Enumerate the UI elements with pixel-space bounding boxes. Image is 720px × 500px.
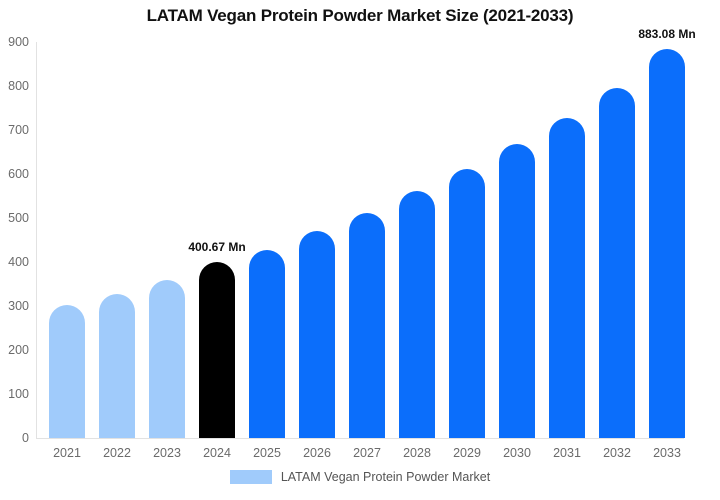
x-axis-tick-label: 2032 [603,446,631,460]
y-axis-tick-label: 900 [8,35,29,49]
bar-value-label: 400.67 Mn [188,240,245,254]
y-axis-tick-label: 700 [8,123,29,137]
y-axis-tick-label: 100 [8,387,29,401]
bar[interactable] [49,305,85,438]
x-axis-tick-label: 2027 [353,446,381,460]
bar-slot: 2026 [292,42,342,438]
x-axis-tick-label: 2025 [253,446,281,460]
bar[interactable] [199,262,235,438]
chart-container: LATAM Vegan Protein Powder Market Size (… [0,0,720,500]
bar-slot: 2028 [392,42,442,438]
x-axis-tick-label: 2026 [303,446,331,460]
bar[interactable] [349,213,385,438]
x-axis-tick-label: 2022 [103,446,131,460]
bar[interactable] [599,88,635,438]
bar-slot: 2022 [92,42,142,438]
bar-slot: 2031 [542,42,592,438]
chart-legend: LATAM Vegan Protein Powder Market [0,470,720,484]
x-axis-tick-label: 2031 [553,446,581,460]
y-axis-tick-label: 0 [22,431,29,445]
bar[interactable] [249,250,285,438]
y-axis-tick-label: 300 [8,299,29,313]
legend-label: LATAM Vegan Protein Powder Market [281,470,490,484]
y-axis-tick-label: 200 [8,343,29,357]
x-axis-tick-label: 2033 [653,446,681,460]
bar-slot: 400.67 Mn2024 [192,42,242,438]
bar[interactable] [99,294,135,438]
bar[interactable] [499,144,535,438]
bar-slot: 2027 [342,42,392,438]
bar[interactable] [299,231,335,438]
y-axis-tick-label: 800 [8,79,29,93]
x-axis-tick-label: 2029 [453,446,481,460]
x-axis-tick-label: 2021 [53,446,81,460]
x-axis-tick-label: 2024 [203,446,231,460]
x-axis-tick-label: 2030 [503,446,531,460]
bar-slot: 2030 [492,42,542,438]
bar-slot: 2029 [442,42,492,438]
bar-slot: 2032 [592,42,642,438]
x-axis-tick-label: 2023 [153,446,181,460]
plot-area: 0100200300400500600700800900 20212022202… [36,42,684,438]
chart-title: LATAM Vegan Protein Powder Market Size (… [0,6,720,26]
bar[interactable] [549,118,585,438]
bar-slot: 2025 [242,42,292,438]
bar-slot: 883.08 Mn2033 [642,42,692,438]
bar[interactable] [399,191,435,438]
y-axis-tick-label: 600 [8,167,29,181]
x-axis-line [36,438,684,439]
y-axis-tick-label: 400 [8,255,29,269]
x-axis-tick-label: 2028 [403,446,431,460]
legend-swatch [230,470,272,484]
bar[interactable] [649,49,685,438]
y-axis-line [36,42,37,438]
bar-value-label: 883.08 Mn [638,27,695,41]
bar-slot: 2021 [42,42,92,438]
y-axis-tick-label: 500 [8,211,29,225]
bar-slot: 2023 [142,42,192,438]
bar[interactable] [449,169,485,438]
bar[interactable] [149,280,185,438]
